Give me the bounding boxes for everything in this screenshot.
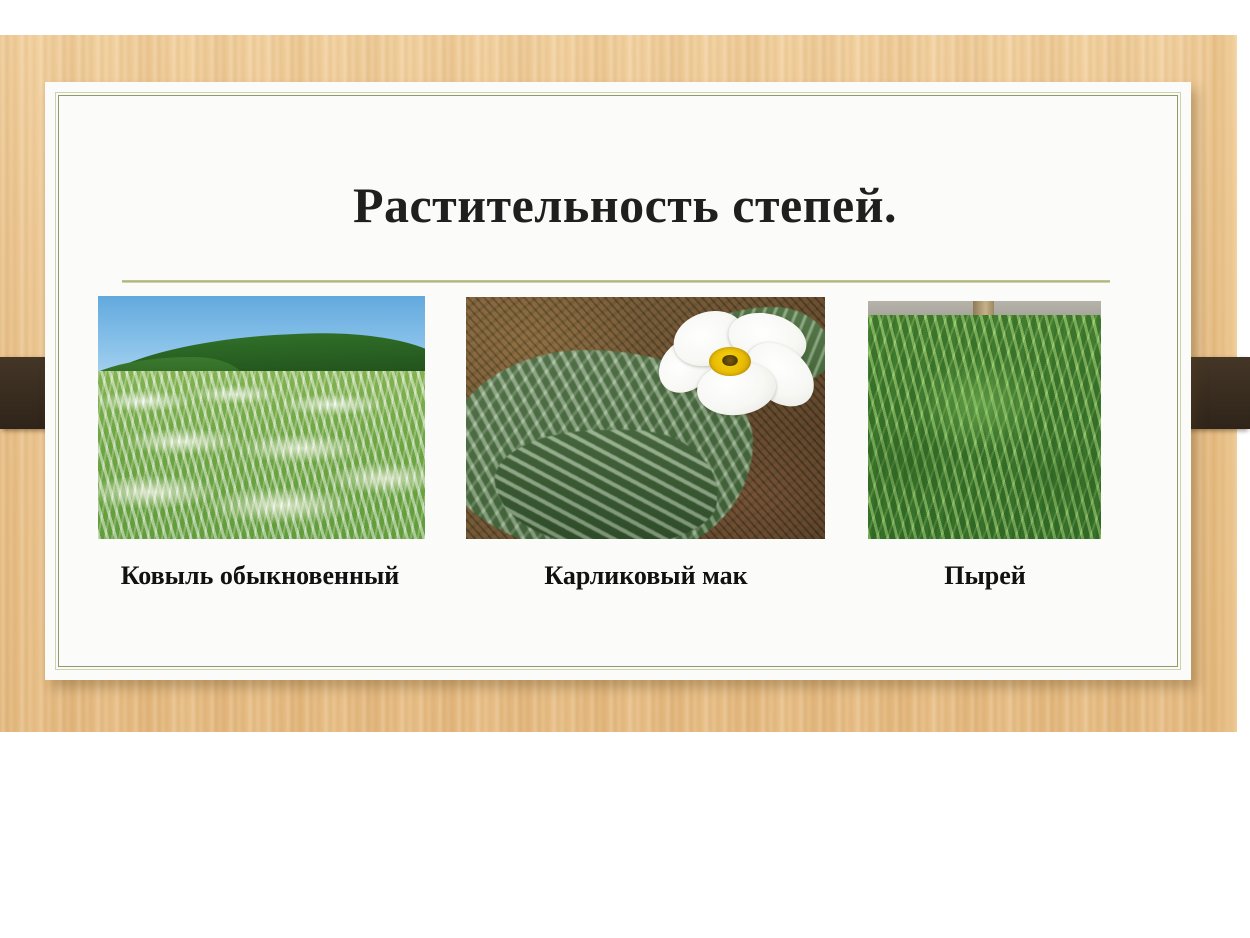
poppy-flower: [646, 309, 818, 430]
dwarf-poppy-photo: [466, 297, 825, 539]
figure-row: Ковыль обыкновенный Карликовый мак: [0, 0, 1250, 938]
slide-canvas: Растительность степей. Ковыль обыкновенн…: [0, 0, 1250, 938]
feather-grass-steppe-photo: [98, 296, 425, 539]
couch-grass-photo: [868, 301, 1101, 539]
thistle-foliage-layer-lower: [495, 430, 718, 539]
figure-caption: Карликовый мак: [470, 561, 822, 591]
feather-grass-field-layer: [98, 371, 425, 539]
figure-caption: Пырей: [860, 561, 1110, 591]
couch-grass-layer: [868, 315, 1101, 539]
figure-caption: Ковыль обыкновенный: [60, 561, 460, 591]
poppy-stamen-center: [709, 347, 750, 376]
